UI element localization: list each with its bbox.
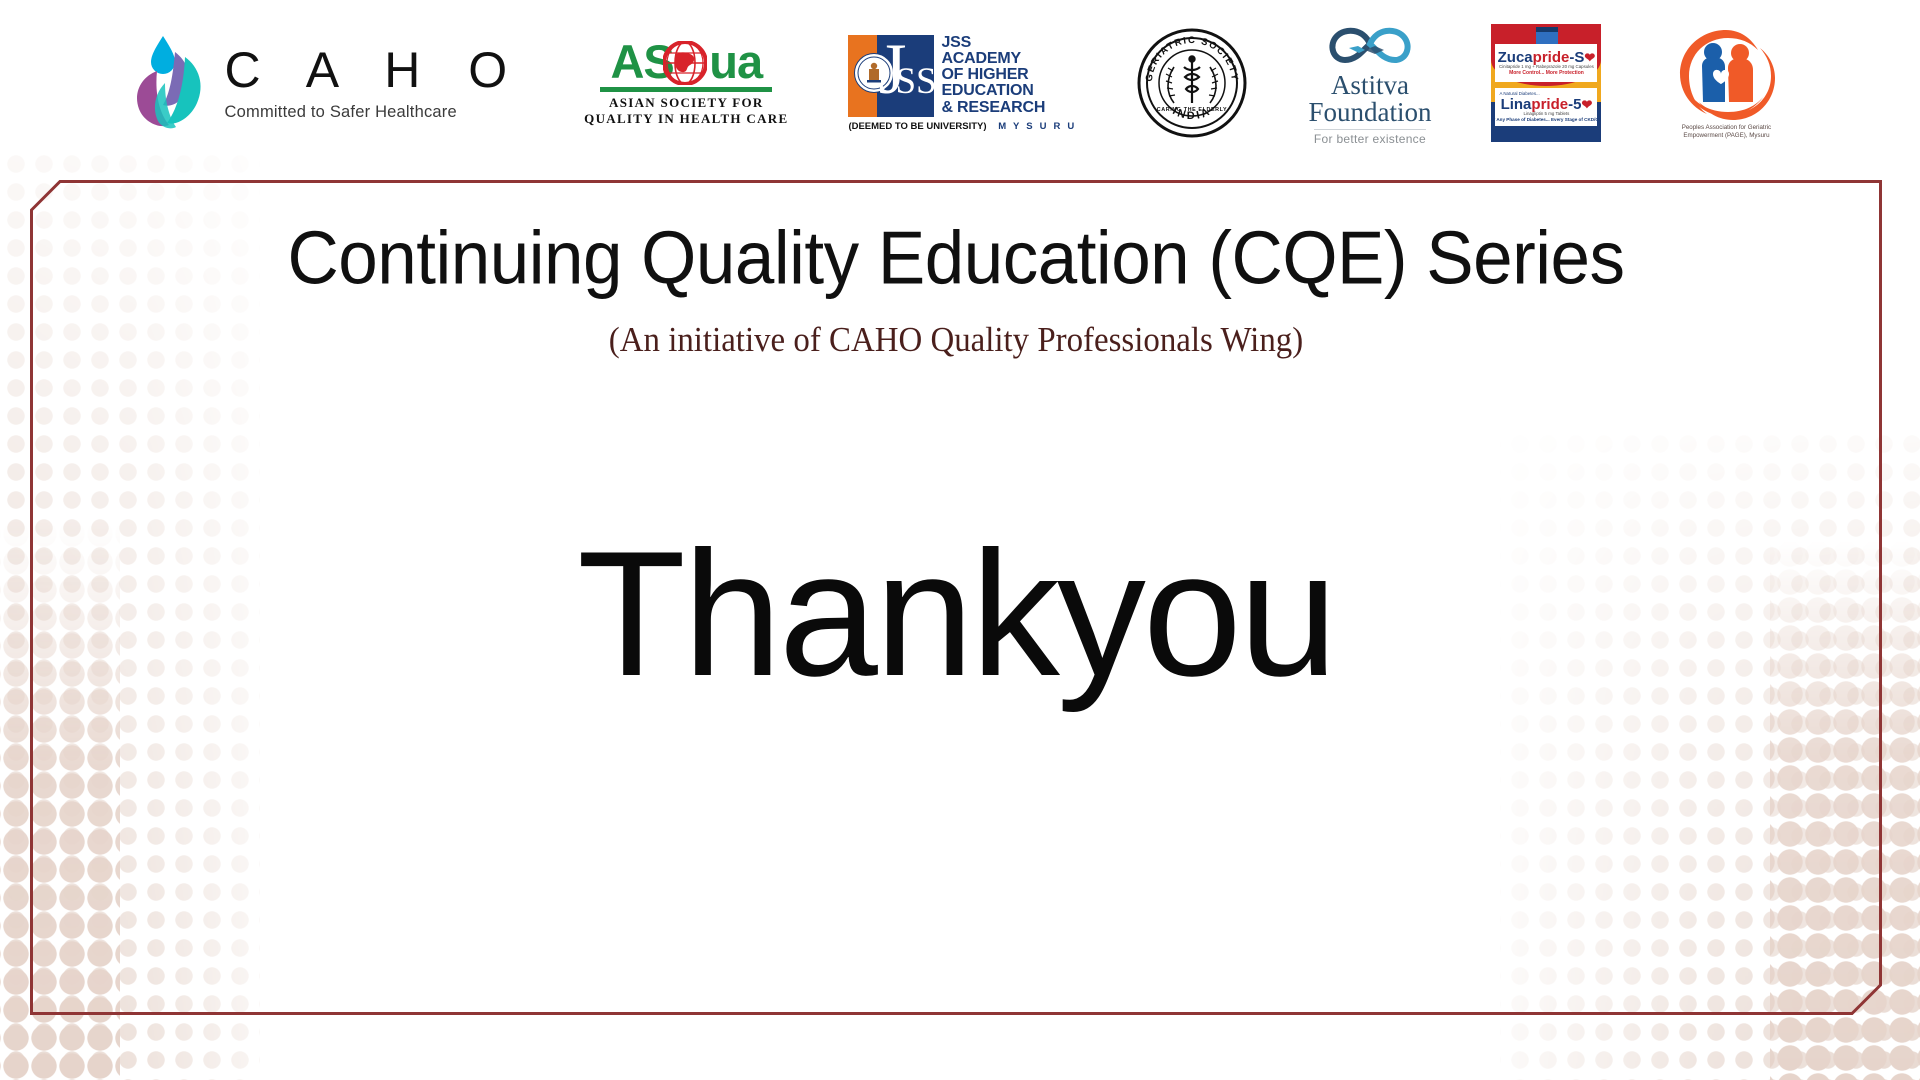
linapride-claim: For Any Phase of Diabetes... Every Stage…: [1491, 117, 1601, 122]
asqua-logo: ASQua ASIAN SOCIETY FOR QUALITY IN HEALT…: [584, 39, 788, 128]
infinity-handshake-icon: [1315, 20, 1425, 68]
partner-logo-strip: C A H O Committed to Safer Healthcare AS…: [0, 18, 1920, 148]
zucapride-card: Zucapride-S❤ Cinitapride 1 mg + Rabepraz…: [1495, 44, 1597, 82]
zucapride-sponsor-logo: Zucapride-S❤ Cinitapride 1 mg + Rabepraz…: [1491, 24, 1601, 142]
linapride-brand-part2: pride: [1531, 96, 1568, 113]
asqua-wordmark-part2: ua: [709, 35, 762, 88]
page-caption-line1: Peoples Association for Geriatric: [1682, 124, 1771, 131]
asqua-subtitle-line1: ASIAN SOCIETY FOR: [609, 95, 764, 110]
jss-line5: & RESEARCH: [941, 99, 1045, 116]
jss-line3: OF HIGHER: [941, 66, 1028, 83]
slide-content-card: Continuing Quality Education (CQE) Serie…: [30, 180, 1882, 1015]
caho-wordmark: C A H O: [225, 45, 525, 95]
page-caption-line2: Empowerment (PAGE), Mysuru: [1683, 132, 1769, 139]
astitva-line1: Astitva: [1331, 70, 1409, 100]
zucapride-composition: Cinitapride 1 mg + Rabeprazole 20 mg Cap…: [1499, 65, 1594, 70]
page-caption: Peoples Association for Geriatric Empowe…: [1682, 124, 1771, 140]
svg-text:CARING THE ELDERLY: CARING THE ELDERLY: [1157, 107, 1228, 113]
astitva-tagline: For better existence: [1314, 129, 1426, 146]
jss-monogram-icon: J SS: [848, 35, 934, 117]
caduceus-laurel-seal-icon: GERIATRIC SOCIETY INDIA: [1136, 27, 1248, 139]
asqua-subtitle: ASIAN SOCIETY FOR QUALITY IN HEALTH CARE: [584, 95, 788, 128]
linapride-brand-suffix: -5: [1568, 96, 1581, 113]
jss-city-note: M Y S U R U: [998, 121, 1076, 132]
geriatric-society-logo: GERIATRIC SOCIETY INDIA: [1136, 27, 1248, 139]
jss-logo: J SS JSS ACADEMY OF HIGHER EDUCATION & R…: [848, 35, 1076, 132]
linapride-brand: Linapride-5❤: [1501, 97, 1593, 112]
astitva-foundation-logo: Astitva Foundation For better existence: [1308, 20, 1431, 146]
caho-tagline: Committed to Safer Healthcare: [225, 103, 457, 122]
page-title: Continuing Quality Education (CQE) Serie…: [30, 216, 1882, 302]
zucapride-claim: More Control... More Protection: [1509, 70, 1584, 76]
asqua-subtitle-line2: QUALITY IN HEALTH CARE: [584, 111, 788, 126]
thankyou-message: Thankyou: [30, 525, 1882, 703]
jss-line4: EDUCATION: [941, 82, 1033, 99]
heart-icon: ❤: [1584, 50, 1595, 65]
jss-letters-ss: SS: [895, 63, 936, 100]
zucapride-brand: Zucapride-S❤: [1498, 50, 1596, 65]
caho-leaf-droplet-icon: [129, 31, 215, 136]
jss-wordmark: JSS ACADEMY OF HIGHER EDUCATION & RESEAR…: [941, 35, 1045, 117]
jss-footnotes: (DEEMED TO BE UNIVERSITY) M Y S U R U: [848, 121, 1076, 132]
jss-deemed-university-note: (DEEMED TO BE UNIVERSITY): [848, 121, 986, 132]
two-people-in-hand-icon: [1674, 26, 1778, 122]
presentation-slide: C A H O Committed to Safer Healthcare AS…: [0, 0, 1920, 1080]
linapride-card: A Natural Diabetes... Linapride-5❤ Linag…: [1495, 88, 1597, 126]
asqua-red-globe-icon: [663, 41, 707, 85]
heart-icon: ❤: [1581, 97, 1592, 112]
linapride-brand-part1: Lina: [1501, 96, 1532, 113]
linapride-composition: Linagliptin 5 mg Tablets: [1524, 112, 1570, 117]
asqua-wordmark: ASQua: [610, 39, 762, 85]
page-mysuru-logo: Peoples Association for Geriatric Empowe…: [1661, 26, 1791, 140]
page-subtitle: (An initiative of CAHO Quality Professio…: [86, 320, 1827, 360]
jss-line2: ACADEMY: [941, 50, 1021, 67]
jss-line1: JSS: [941, 34, 971, 51]
caho-logo: C A H O Committed to Safer Healthcare: [129, 31, 525, 136]
astitva-wordmark: Astitva Foundation: [1308, 72, 1431, 126]
astitva-line2: Foundation: [1308, 97, 1431, 127]
